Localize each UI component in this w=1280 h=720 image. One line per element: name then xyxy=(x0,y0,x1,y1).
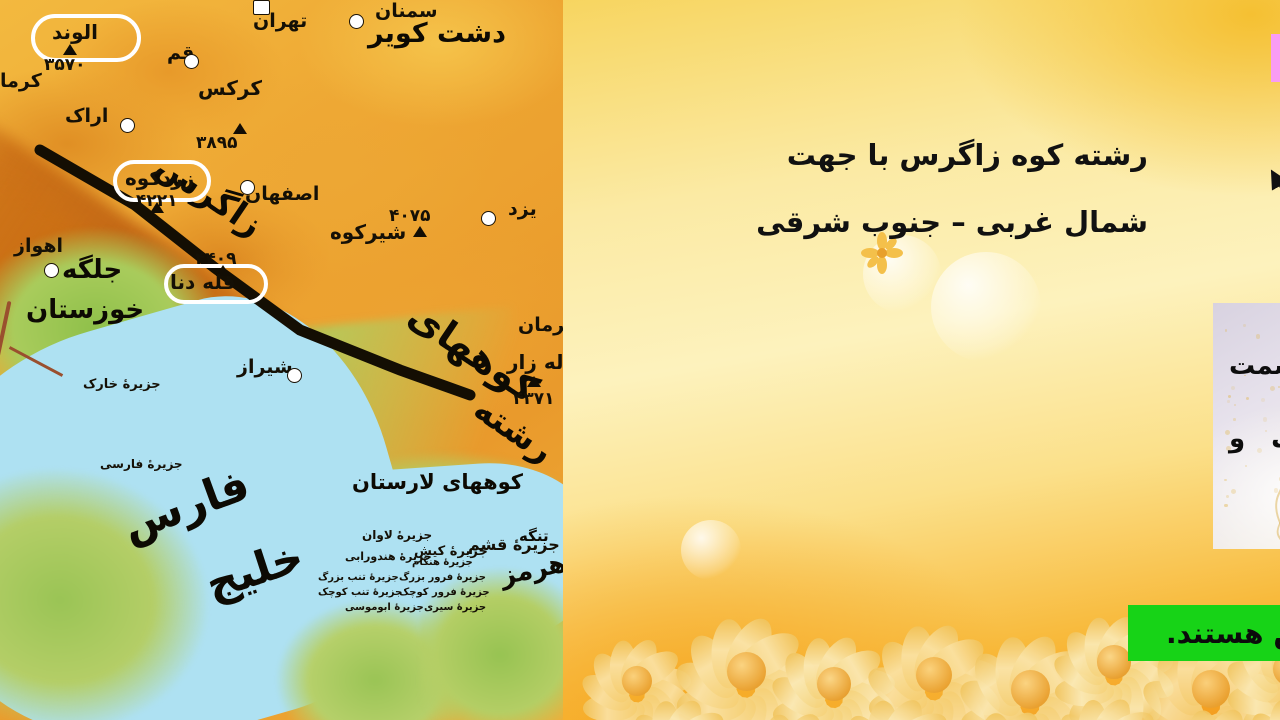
grey-box-line-3: باران کاسته می شود. xyxy=(1229,493,1280,523)
iran-relief-map: دشت کویرجلگهخوزستانکوههای لارستانخلیجفار… xyxy=(0,0,563,720)
map-city-label: کرما xyxy=(0,72,42,91)
hormozgan-coast xyxy=(420,560,563,720)
map-island-label: جزیرهٔ فارسی xyxy=(100,458,183,470)
map-city-label: شیراز xyxy=(237,358,293,377)
content-panel: نواحی مرتفع و بلند در غرب: رشته کوه زاگر… xyxy=(563,0,1280,720)
map-city-marker xyxy=(287,368,302,383)
map-island-label: جزیرهٔ هنگام xyxy=(412,558,473,568)
map-city-marker xyxy=(184,54,199,69)
map-city-label: اصفهان xyxy=(245,185,319,204)
map-city-label: اراک xyxy=(65,107,108,126)
map-city-label: یزد xyxy=(508,200,537,219)
snow-image-text-box: هر چه از دامنه های شمال غربی به سمت جنوب… xyxy=(1213,303,1280,549)
map-city-marker xyxy=(349,14,364,29)
map-city-marker xyxy=(481,211,496,226)
presentation-slide: دشت کویرجلگهخوزستانکوههای لارستانخلیجفار… xyxy=(0,0,1280,720)
map-island-label: جزیرهٔ تنب بزرگ xyxy=(318,573,399,583)
map-city-marker xyxy=(240,180,255,195)
map-peak-name: قله دنا xyxy=(170,272,236,292)
map-region-label: دشت کویر xyxy=(368,18,506,49)
map-peak-name: لاله زار xyxy=(507,352,563,372)
map-region-label: کوههای لارستان xyxy=(352,470,523,494)
map-city-marker xyxy=(44,263,59,278)
map-peak-marker xyxy=(63,44,77,55)
map-city-label: سمنان xyxy=(375,2,438,21)
grey-box-line-2: جنوب شرقی برویم از میزان برف و xyxy=(1229,424,1280,454)
map-city-label: اهواز xyxy=(14,237,63,256)
grey-box-line-1: هر چه از دامنه های شمال غربی به سمت xyxy=(1229,351,1280,381)
map-peak-elevation: ۳۵۷۰ xyxy=(44,57,86,74)
slide-title-box: نواحی مرتفع و بلند در غرب: xyxy=(1271,34,1280,82)
map-island-label: جزیرهٔ ابوموسی xyxy=(345,603,424,613)
map-peak-name: الوند xyxy=(52,22,98,42)
map-region-label: خوزستان xyxy=(26,295,144,325)
map-island-label: جزیرهٔ فرور کوچک xyxy=(399,588,490,598)
map-island-label: جزیرهٔ لاوان xyxy=(362,529,432,541)
map-peak-elevation: ۴۰۷۵ xyxy=(389,208,431,225)
map-region-label: جلگه xyxy=(62,255,122,285)
body-line-2: شمال غربی – جنوب شرقی xyxy=(756,205,1148,239)
map-peak-elevation: ۳۸۹۵ xyxy=(196,135,238,152)
map-island-label: جزیرهٔ خارک xyxy=(83,378,161,391)
map-peak-elevation: ۴۴۰۹ xyxy=(195,251,237,268)
summary-text: الوند، زرد کوه و دنا قله های بلند زاگرس … xyxy=(1166,617,1280,650)
map-island-label: جزیرهٔ سیری xyxy=(424,603,486,613)
map-city-marker xyxy=(253,0,270,15)
daisy-flower xyxy=(1235,680,1280,720)
map-peak-marker xyxy=(413,226,427,237)
map-island-label: جزیرهٔ تنب کوچک xyxy=(318,588,402,598)
map-peak-elevation: ۴۲۲۱ xyxy=(136,193,178,210)
map-island-label: جزیرهٔ فرور بزرگ xyxy=(399,573,486,583)
map-peak-name: زردکوه xyxy=(125,168,194,188)
map-peak-name: کرکس xyxy=(198,78,262,98)
decorative-bubble-2 xyxy=(931,252,1041,362)
map-city-label: کرمان xyxy=(518,316,563,335)
map-city-marker xyxy=(120,118,135,133)
map-peak-marker xyxy=(527,376,541,387)
double-headed-arrow-icon xyxy=(1260,163,1280,255)
map-peak-elevation: ۴۳۷۱ xyxy=(513,391,555,408)
summary-green-box: الوند، زرد کوه و دنا قله های بلند زاگرس … xyxy=(1128,605,1280,661)
body-line-1: رشته کوه زاگرس با جهت xyxy=(787,138,1148,172)
